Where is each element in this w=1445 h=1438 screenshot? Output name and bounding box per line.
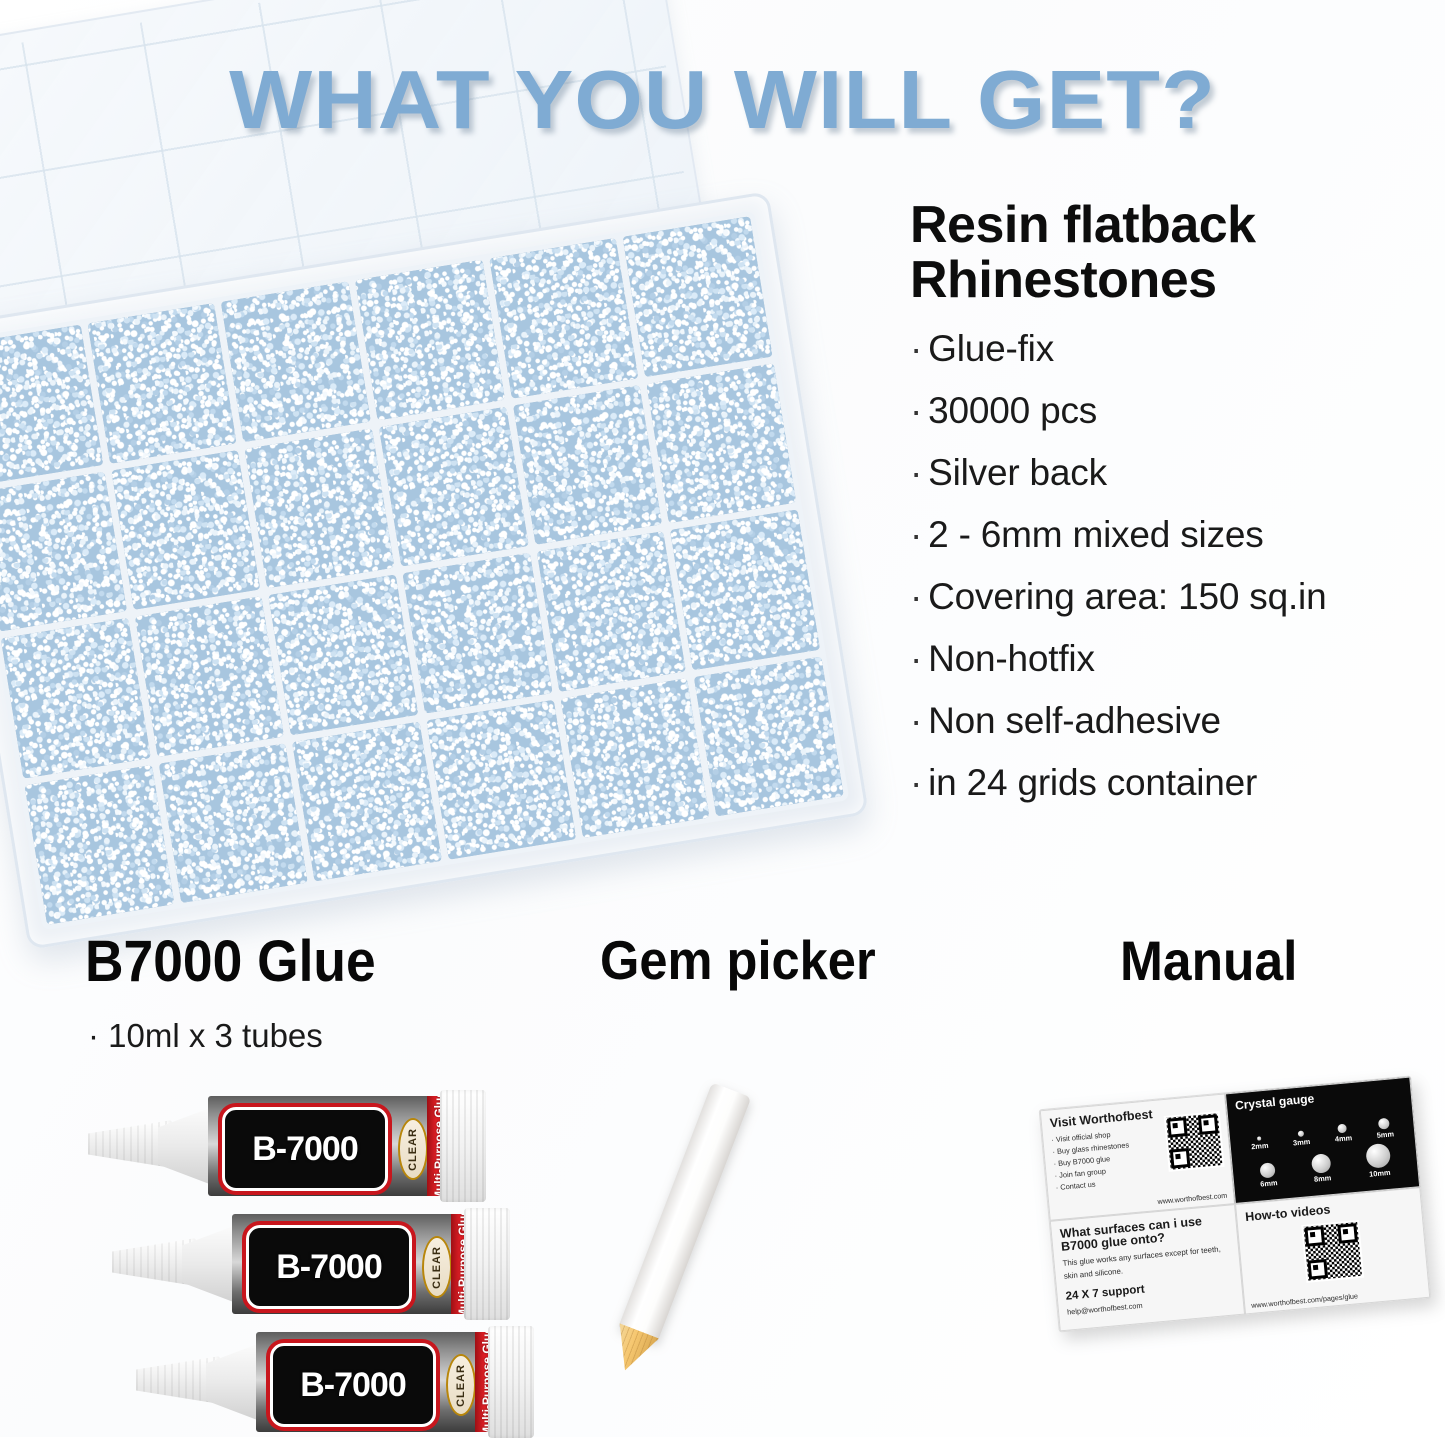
gauge-item: 10mm bbox=[1365, 1142, 1392, 1178]
clear-badge: CLEAR bbox=[398, 1118, 428, 1180]
manual-quadrant-gauge: Crystal gauge 2mm 3mm 4mm 5mm 6mm 8mm 10… bbox=[1225, 1077, 1420, 1204]
spec-item: ·Silver back bbox=[910, 454, 1430, 491]
product-heading: Resin flatback Rhinestones bbox=[910, 198, 1430, 308]
tube-brand-label: B-7000 bbox=[246, 1225, 412, 1309]
tube-crimp-tail bbox=[488, 1326, 534, 1438]
tube-brand-text: B-7000 bbox=[252, 1130, 358, 1169]
spec-text: 30000 pcs bbox=[928, 390, 1097, 431]
spec-item: ·Glue-fix bbox=[910, 330, 1430, 367]
gauge-item: 3mm bbox=[1292, 1130, 1311, 1147]
compartment bbox=[0, 471, 127, 631]
gauge-label: 6mm bbox=[1260, 1178, 1278, 1189]
compartment bbox=[513, 385, 663, 545]
tube-body: B-7000 CLEAR Multi-Purpose Glue 0.5 OZ /… bbox=[232, 1214, 470, 1314]
spec-text: Covering area: 150 sq.in bbox=[928, 576, 1326, 617]
compartment bbox=[670, 509, 820, 669]
spec-item: ·Covering area: 150 sq.in bbox=[910, 578, 1430, 615]
bullet-icon: · bbox=[910, 762, 922, 803]
spec-text: Non-hotfix bbox=[928, 638, 1095, 679]
compartment-grid bbox=[0, 211, 849, 931]
compartment bbox=[135, 596, 285, 756]
tube-body: B-7000 CLEAR Multi-Purpose Glue 0.5 OZ /… bbox=[208, 1096, 446, 1196]
page-title: WHAT YOU WILL GET? bbox=[0, 52, 1445, 148]
gauge-item: 4mm bbox=[1334, 1123, 1353, 1143]
clear-badge-text: CLEAR bbox=[431, 1246, 443, 1289]
compartment bbox=[536, 531, 686, 691]
glue-tube: B-7000 CLEAR Multi-Purpose Glue 0.5 OZ /… bbox=[88, 1090, 488, 1202]
gauge-label: 8mm bbox=[1313, 1173, 1333, 1184]
spec-item: ·2 - 6mm mixed sizes bbox=[910, 516, 1430, 553]
qr-code-visit bbox=[1164, 1111, 1225, 1172]
glue-tube: B-7000 CLEAR Multi-Purpose Glue 0.5 OZ /… bbox=[112, 1208, 512, 1320]
spec-item: ·Non self-adhesive bbox=[910, 702, 1430, 739]
manual-quadrant-visit: Visit Worthofbest · Visit official shop … bbox=[1040, 1093, 1235, 1220]
manual-card: Visit Worthofbest · Visit official shop … bbox=[1039, 1076, 1432, 1333]
compartment bbox=[560, 678, 710, 838]
gauge-label: 5mm bbox=[1376, 1129, 1394, 1140]
bullet-icon: · bbox=[910, 514, 922, 555]
compartment bbox=[489, 238, 639, 398]
gauge-item: 8mm bbox=[1311, 1153, 1333, 1184]
bullet-icon: · bbox=[910, 390, 922, 431]
visit-url: www.worthofbest.com bbox=[1157, 1191, 1227, 1206]
compartment bbox=[269, 575, 419, 735]
bullet-icon: · bbox=[910, 452, 922, 493]
spec-item: ·30000 pcs bbox=[910, 392, 1430, 429]
manual-quadrant-surfaces: What surfaces can i use B7000 glue onto?… bbox=[1050, 1204, 1245, 1331]
compartment bbox=[87, 303, 237, 463]
gauge-label: 10mm bbox=[1367, 1167, 1392, 1178]
compartment bbox=[221, 281, 371, 441]
rhinestone-container-image bbox=[0, 80, 895, 920]
tube-crimp-tail bbox=[440, 1090, 486, 1202]
section-heading-glue: B7000 Glue bbox=[85, 928, 376, 995]
gauge-item: 6mm bbox=[1258, 1162, 1277, 1188]
bullet-icon: · bbox=[910, 576, 922, 617]
spec-text: Silver back bbox=[928, 452, 1107, 493]
tube-brand-text: B-7000 bbox=[300, 1366, 406, 1405]
container-tray bbox=[0, 191, 869, 950]
tube-crimp-tail bbox=[464, 1208, 510, 1320]
compartment bbox=[355, 260, 505, 420]
clear-badge: CLEAR bbox=[422, 1236, 452, 1298]
spec-item: ·Non-hotfix bbox=[910, 640, 1430, 677]
glue-tube: B-7000 CLEAR Multi-Purpose Glue 0.5 OZ /… bbox=[136, 1326, 536, 1438]
tube-brand-label: B-7000 bbox=[222, 1107, 388, 1191]
bullet-icon: · bbox=[910, 700, 922, 741]
compartment bbox=[158, 743, 308, 903]
compartment bbox=[0, 325, 103, 485]
manual-quadrant-videos: How-to videos www.worthofbest.com/pages/… bbox=[1235, 1187, 1430, 1314]
compartment bbox=[292, 721, 442, 881]
spec-text: in 24 grids container bbox=[928, 762, 1257, 803]
glue-subtitle: · 10ml x 3 tubes bbox=[88, 1017, 323, 1055]
tube-body: B-7000 CLEAR Multi-Purpose Glue 0.5 OZ /… bbox=[256, 1332, 494, 1432]
videos-heading: How-to videos bbox=[1245, 1196, 1413, 1224]
product-spec-column: Resin flatback Rhinestones ·Glue-fix ·30… bbox=[910, 198, 1430, 826]
compartment bbox=[1, 618, 151, 778]
gauge-label: 4mm bbox=[1334, 1133, 1352, 1144]
gauge-label: 3mm bbox=[1293, 1137, 1311, 1148]
compartment bbox=[647, 363, 797, 523]
spec-text: 2 - 6mm mixed sizes bbox=[928, 514, 1263, 555]
spec-item: ·in 24 grids container bbox=[910, 764, 1430, 801]
section-heading-picker: Gem picker bbox=[600, 928, 876, 992]
compartment bbox=[623, 216, 773, 376]
compartment bbox=[111, 450, 261, 610]
spec-text: Glue-fix bbox=[928, 328, 1054, 369]
compartment bbox=[426, 699, 576, 859]
section-heading-manual: Manual bbox=[1120, 928, 1297, 993]
clear-badge: CLEAR bbox=[446, 1354, 476, 1416]
compartment bbox=[24, 764, 174, 924]
clear-badge-text: CLEAR bbox=[455, 1364, 467, 1407]
bullet-icon: · bbox=[910, 328, 922, 369]
bullet-icon: · bbox=[910, 638, 922, 679]
clear-badge-text: CLEAR bbox=[407, 1128, 419, 1171]
gauge-label: 2mm bbox=[1251, 1140, 1269, 1151]
qr-code-videos bbox=[1301, 1220, 1364, 1283]
tube-brand-label: B-7000 bbox=[270, 1343, 436, 1427]
tube-brand-text: B-7000 bbox=[276, 1248, 382, 1287]
spec-text: Non self-adhesive bbox=[928, 700, 1221, 741]
gauge-item: 2mm bbox=[1250, 1135, 1268, 1151]
compartment bbox=[245, 428, 395, 588]
compartment bbox=[403, 553, 553, 713]
gauge-item: 5mm bbox=[1375, 1117, 1394, 1139]
compartment bbox=[379, 406, 529, 566]
compartment bbox=[694, 656, 844, 816]
